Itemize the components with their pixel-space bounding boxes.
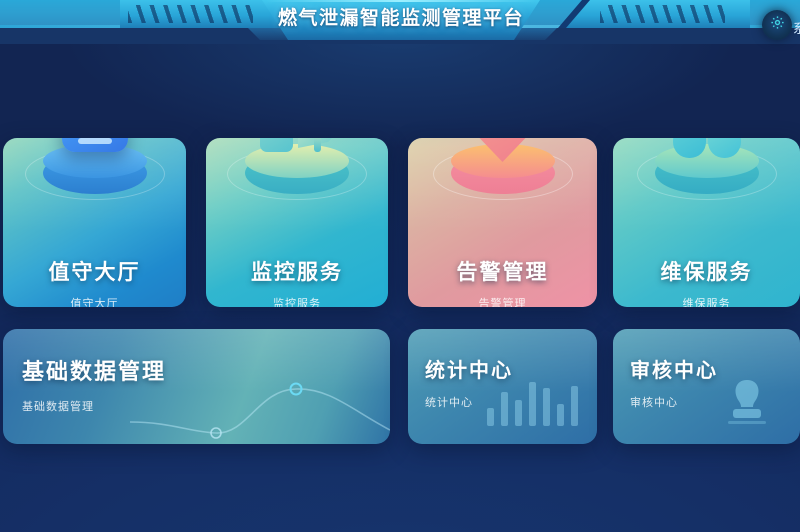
app-title: 燃气泄漏智能监测管理平台	[236, 0, 566, 32]
four-petal-icon	[672, 138, 742, 158]
card-text-block: 维保服务 维保服务	[613, 256, 800, 307]
header-right-stripes	[600, 5, 725, 23]
shield-check-icon	[472, 138, 534, 162]
module-card-statistics-center[interactable]: 统计中心 统计中心	[408, 329, 597, 444]
card-subtitle: 审核中心	[630, 394, 718, 410]
card-subtitle: 告警管理	[408, 295, 597, 307]
card-text-block: 审核中心 审核中心	[630, 354, 718, 410]
pedestal-ring	[637, 148, 777, 200]
card-text-block: 监控服务 监控服务	[206, 256, 388, 307]
card-title: 值守大厅	[3, 256, 186, 286]
card-subtitle: 维保服务	[613, 295, 800, 307]
stamp-icon	[720, 376, 774, 428]
app-header: 燃气泄漏智能监测管理平台 系	[0, 0, 800, 44]
module-grid: 值守大厅 值守大厅 监控服务 监控服务	[0, 44, 800, 532]
pedestal-top	[43, 144, 147, 178]
card-subtitle: 监控服务	[206, 295, 388, 307]
card-title: 告警管理	[408, 256, 597, 286]
module-card-basic-data-management[interactable]: 基础数据管理 基础数据管理	[3, 329, 390, 444]
bar	[571, 386, 578, 426]
card-subtitle: 基础数据管理	[22, 398, 166, 414]
module-card-alarm-management[interactable]: 告警管理 告警管理	[408, 138, 597, 307]
pedestal-ring	[433, 148, 573, 200]
module-card-audit-center[interactable]: 审核中心 审核中心	[613, 329, 800, 444]
monitor-service-illustration	[206, 138, 388, 230]
bar	[515, 400, 522, 426]
app-background: 燃气泄漏智能监测管理平台 系	[0, 0, 800, 532]
card-title: 统计中心	[425, 354, 513, 383]
shield-body	[472, 138, 534, 162]
card-text-block: 值守大厅 值守大厅	[3, 256, 186, 307]
camera-body	[298, 138, 338, 152]
pedestal-base	[43, 152, 147, 194]
grid-tile	[260, 138, 293, 152]
bar	[543, 388, 550, 426]
header-corner-text: 系	[793, 18, 800, 40]
bar	[557, 404, 564, 426]
card-text-block: 统计中心 统计中心	[425, 354, 513, 410]
pedestal-base	[451, 152, 555, 194]
module-card-maintenance-service[interactable]: 维保服务 维保服务	[613, 138, 800, 307]
module-card-duty-hall[interactable]: 值守大厅 值守大厅	[3, 138, 186, 307]
module-card-monitor-service[interactable]: 监控服务 监控服务	[206, 138, 388, 307]
header-left-stripes	[128, 5, 253, 23]
camera-stem	[314, 138, 321, 152]
monitor-stand	[78, 138, 112, 144]
bar	[529, 382, 536, 426]
gear-icon	[770, 15, 785, 35]
chart-monitor-icon	[62, 138, 128, 152]
duty-hall-illustration	[3, 138, 186, 230]
card-title: 审核中心	[630, 354, 718, 383]
card-subtitle: 值守大厅	[3, 295, 186, 307]
card-text-block: 基础数据管理 基础数据管理	[22, 354, 166, 414]
line-chart-icon	[130, 348, 390, 444]
pedestal-top	[451, 144, 555, 178]
maintenance-illustration	[613, 138, 800, 230]
pedestal-top	[245, 144, 349, 178]
card-title: 监控服务	[206, 256, 388, 286]
pedestal-base	[245, 152, 349, 194]
card-text-block: 告警管理 告警管理	[408, 256, 597, 307]
alarm-management-illustration	[408, 138, 597, 230]
petal	[708, 138, 741, 158]
bar	[487, 408, 494, 426]
card-title: 基础数据管理	[22, 354, 166, 386]
card-subtitle: 统计中心	[425, 394, 513, 410]
pedestal-base	[655, 152, 759, 194]
pedestal-top	[655, 144, 759, 178]
petal	[673, 138, 706, 158]
card-title: 维保服务	[613, 256, 800, 286]
pedestal-ring	[227, 148, 367, 200]
camera-grid-icon	[260, 138, 334, 152]
settings-button[interactable]	[762, 10, 792, 40]
pedestal-ring	[25, 148, 165, 200]
